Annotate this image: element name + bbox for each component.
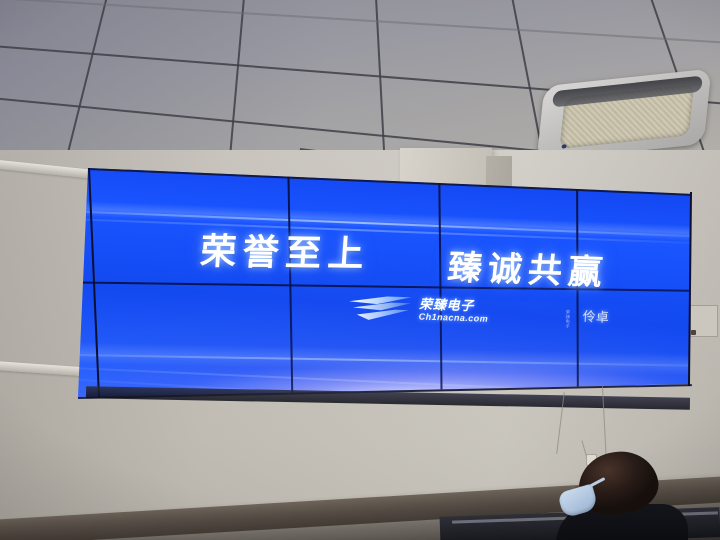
seated-person bbox=[556, 452, 688, 540]
wall-outlet-screw-icon bbox=[691, 330, 696, 335]
room-photo-scene: 荣誉至上 臻诚共赢 bbox=[0, 0, 720, 540]
